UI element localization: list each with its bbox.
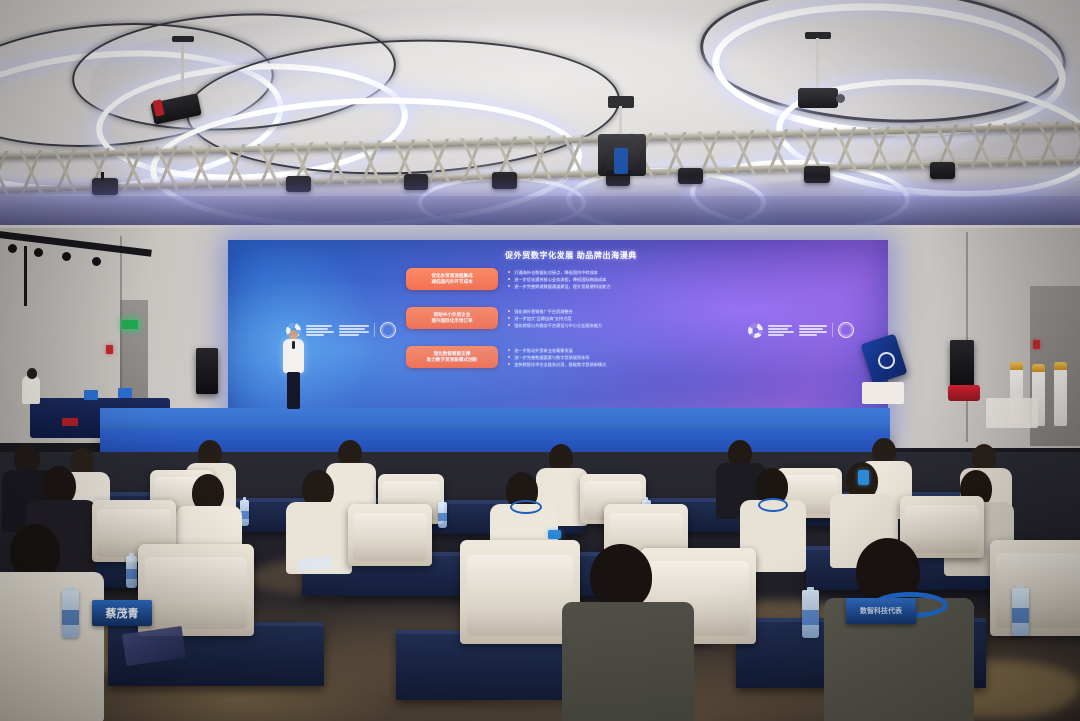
name-card-front-left-text: 蔡茂青 [106,605,139,621]
logo-wordmark-left [306,325,334,336]
slide-row-3: 强化数智赋能支撑 助力数字贸易新模式创新 进一步推动外贸新业态集聚发展 进一步完… [406,346,736,368]
logo-wordmark-left-en [339,325,369,336]
water-bottle[interactable] [802,590,819,638]
bottle-label [126,569,137,579]
name-card-front-left: 蔡茂青 [92,600,152,626]
bottle-label [438,513,447,521]
decor-side-table [986,398,1038,428]
left-rail-downlight-3 [62,252,71,261]
red-draped-cloth [948,385,980,401]
slide-bullet: 强化海外营销推广平台资源整合 [508,308,736,315]
smartphone[interactable] [858,470,869,485]
lanyard-icon [758,498,788,512]
circular-globe-emblem-icon-right [838,322,854,338]
circular-globe-emblem-icon-left [380,322,396,338]
decor-pillar-2-gold-top [1032,364,1045,372]
decor-pillar-3-gold-top [1054,362,1067,370]
ceiling-projector-pole [816,38,819,90]
presenter-trousers [287,372,300,409]
water-bottle[interactable] [1012,588,1029,636]
line-array-speaker-right [950,340,974,388]
slide-bullet: 进一步加大"品牌出海"支持力度 [508,315,736,322]
tech-desk-label-icon [62,418,78,426]
wall-seam-right [966,232,968,442]
bottle-label [62,610,79,624]
ceiling-spot-pole-left [181,42,184,100]
audience-chair [348,504,432,566]
slide-bullets-3: 进一步推动外贸新业态集聚发展 进一步完善数据要素与数字贸易规则体系 加快数智技术… [508,347,736,368]
slide-bullets-2: 强化海外营销推广平台资源整合 进一步加大"品牌出海"支持力度 强化跨境公共服务平… [508,308,736,329]
audience-chair [138,544,254,636]
slide-row-2: 帮助中小外贸企业 提升国际化市场订单 强化海外营销推广平台资源整合 进一步加大"… [406,307,736,329]
ceiling-projector-icon [798,88,838,108]
slide-bullet: 加快数智技术在全链条应用，赋能数字贸易新模式 [508,361,736,368]
slide-bullet: 强化跨境公共服务平台建设与中小企业服务能力 [508,322,736,329]
person-torso [0,572,104,721]
name-card-front-right-text: 数智科技代表 [860,606,902,616]
logo-wordmark-right-en [799,325,827,336]
tech-operator-head [27,368,37,379]
water-bottle[interactable] [438,502,447,528]
slide-bullet: 进一步优化通关核心业务流程，降低国际物流成本 [508,276,736,283]
fire-alarm-icon-right [1033,340,1040,349]
logo-wordmark-right [768,325,794,336]
logo-divider-right [832,323,833,337]
slide-bullet: 打通海外仓数据化对接点，降低国内中转成本 [508,269,736,276]
screen-logo-lockup-right [748,322,854,338]
truss-center-pole [619,106,622,136]
slide-chip-3-line2: 助力数字贸易新模式创新 [427,357,478,363]
tech-desk-monitor-left [84,390,98,400]
lanyard-icon [510,500,542,514]
slide-chip-1-line2: 减低国内外环节成本 [431,279,472,285]
projector-lens-icon [836,94,845,103]
slide-chip-2-line2: 提升国际化市场订单 [431,318,472,324]
water-bottle[interactable] [62,590,79,638]
cube-logo-plinth [862,382,904,404]
logo-divider-left [374,323,375,337]
exit-sign-icon [122,320,138,329]
stage-presenter [280,330,306,410]
slide-bullets-1: 打通海外仓数据化对接点，降低国内中转成本 进一步优化通关核心业务流程，降低国际物… [508,269,736,290]
truss-center-blue-accent-icon [614,148,628,174]
tech-desk-monitor-right [118,388,132,398]
smartphone[interactable] [548,530,561,539]
handheld-microphone-icon [292,341,295,349]
water-bottle[interactable] [126,556,137,588]
fire-alarm-icon-left [106,345,113,354]
name-card-front-right: 数智科技代表 [846,598,916,624]
slide-bullet: 进一步推动外贸新业态集聚发展 [508,347,736,354]
slide-bullet: 进一步完善数据要素与数字贸易规则体系 [508,354,736,361]
person-torso [562,602,694,721]
decor-pillar-3 [1054,368,1067,426]
presentation-slide: 促外贸数字化发展 助品牌出海漫典 优化办贸易流程集成 减低国内外环节成本 打通海… [406,250,736,405]
decor-pillar-1-gold-top [1010,362,1023,370]
slide-chip-1: 优化办贸易流程集成 减低国内外环节成本 [406,268,498,290]
left-rail-downlight-1 [8,244,17,253]
slide-chip-3: 强化数智赋能支撑 助力数字贸易新模式创新 [406,346,498,368]
person-head [590,544,652,610]
left-rail-downlight-4 [92,257,101,266]
bottle-label [1012,608,1029,622]
line-array-speaker-left [196,348,218,394]
bottle-label [802,610,819,624]
left-rail-pole [24,246,27,306]
slide-row-1: 优化办贸易流程集成 减低国内外环节成本 打通海外仓数据化对接点，降低国内中转成本… [406,268,736,290]
audience-chair [990,540,1080,636]
conference-emblem-swirl-icon-right [748,323,763,338]
slide-chip-2: 帮助中小外贸企业 提升国际化市场订单 [406,307,498,329]
tech-operator-person [22,376,40,404]
left-rail-downlight-2 [34,248,43,257]
slide-title: 促外贸数字化发展 助品牌出海漫典 [406,250,736,261]
conference-photo-scene: 促外贸数字化发展 助品牌出海漫典 优化办贸易流程集成 减低国内外环节成本 打通海… [0,0,1080,721]
audience-chair [900,496,984,558]
slide-bullet: 进一步完善跨境数据通道建设，提升贸易便利化能力 [508,283,736,290]
